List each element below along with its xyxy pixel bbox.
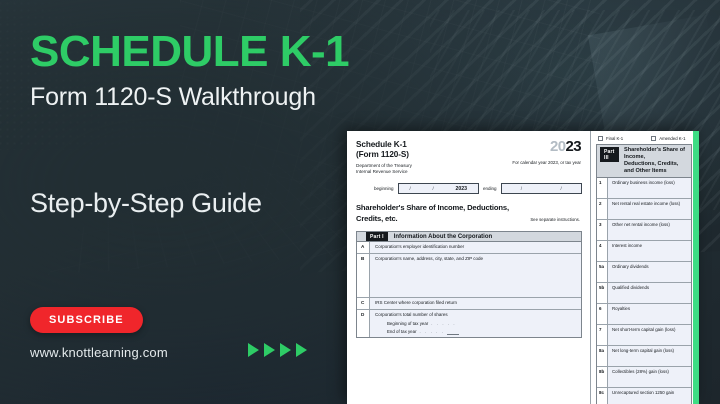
table-row[interactable]: B Corporation's name, address, city, sta…	[357, 254, 581, 298]
row-label: Ordinary business income (loss)	[608, 178, 675, 198]
form-green-edge	[693, 131, 699, 404]
website-url: www.knottlearning.com	[30, 345, 168, 360]
tax-year: 2023	[512, 139, 581, 154]
row-label: Unrecaptured section 1250 gain	[608, 388, 674, 404]
form-year-block: 2023 For calendar year 2023, or tax year	[512, 139, 581, 165]
final-k1-checkbox[interactable]: Final K-1	[598, 136, 623, 141]
table-row[interactable]: 4Interest income	[597, 241, 691, 262]
table-row[interactable]: A Corporation's employer identification …	[357, 242, 581, 254]
part1-table: A Corporation's employer identification …	[356, 242, 582, 338]
beginning-date-field[interactable]: / / 2023	[398, 183, 479, 194]
checkbox-icon[interactable]	[651, 136, 656, 141]
shares-ending-label: End of tax year	[387, 329, 417, 335]
row-key: 3	[597, 220, 608, 240]
table-row[interactable]: 5bQualified dividends	[597, 283, 691, 304]
part1-label: Information About the Corporation	[394, 234, 492, 240]
tax-year-suffix: 23	[566, 138, 582, 155]
slash: /	[521, 186, 522, 191]
part1-tag: Part I	[366, 232, 388, 241]
part1-header: Part I Information About the Corporation	[356, 231, 582, 242]
shares-ending-row[interactable]: End of tax year . . . . .	[375, 329, 459, 335]
row-key: 6	[597, 304, 608, 324]
ending-label: ending	[483, 186, 497, 191]
shares-beginning-row[interactable]: Beginning of tax year . . . . .	[375, 320, 459, 326]
part3-label: Shareholder's Share of Income, Deduction…	[624, 147, 688, 175]
shares-ending-input[interactable]	[447, 329, 459, 335]
row-label: Royalties	[608, 304, 630, 324]
row-label: Corporation's total number of shares	[375, 312, 459, 318]
row-key: A	[357, 242, 370, 253]
final-k1-label: Final K-1	[606, 136, 623, 141]
part3-header: Part III Shareholder's Share of Income, …	[596, 144, 692, 178]
page-subtitle: Form 1120-S Walkthrough	[30, 84, 360, 112]
calendar-year-note: For calendar year 2023, or tax year	[512, 160, 581, 165]
table-row[interactable]: 2Net rental real estate income (loss)	[597, 199, 691, 220]
row-label: Net short-term capital gain (loss)	[608, 325, 675, 345]
row-key: C	[357, 298, 370, 309]
form-left-column: 2023 For calendar year 2023, or tax year…	[347, 131, 591, 404]
dot-leader: . . . . .	[420, 329, 445, 334]
subscribe-button[interactable]: SUBSCRIBE	[30, 307, 143, 333]
row-key: 4	[597, 241, 608, 261]
row-key: D	[357, 310, 370, 337]
part3-tag: Part III	[600, 147, 619, 162]
beginning-label: beginning	[374, 186, 394, 191]
row-label-group: Corporation's total number of shares Beg…	[370, 310, 459, 337]
table-row[interactable]: 3Other net rental income (loss)	[597, 220, 691, 241]
row-key: 8a	[597, 346, 608, 366]
row-label: Collectibles (28%) gain (loss)	[608, 367, 669, 387]
checkbox-icon[interactable]	[598, 136, 603, 141]
table-row[interactable]: 8cUnrecaptured section 1250 gain	[597, 388, 691, 404]
table-row[interactable]: C IRS Center where corporation filed ret…	[357, 298, 581, 310]
shares-beginning-label: Beginning of tax year	[387, 321, 428, 327]
amended-k1-label: Amended K-1	[659, 136, 685, 141]
table-row[interactable]: 8aNet long-term capital gain (loss)	[597, 346, 691, 367]
slash: /	[409, 186, 410, 191]
part3-table: 1Ordinary business income (loss) 2Net re…	[596, 178, 692, 404]
amended-k1-checkbox[interactable]: Amended K-1	[651, 136, 685, 141]
table-row[interactable]: 7Net short-term capital gain (loss)	[597, 325, 691, 346]
beginning-year-value: 2023	[456, 186, 468, 192]
video-thumbnail: SCHEDULE K-1 Form 1120-S Walkthrough Ste…	[0, 0, 720, 404]
tax-period-row: beginning / / 2023 ending / /	[356, 183, 582, 194]
tagline: Step-by-Step Guide	[30, 188, 262, 219]
form-right-column: Final K-1 Amended K-1 Part III Sharehold…	[591, 131, 699, 404]
row-key: 1	[597, 178, 608, 198]
row-key: 5b	[597, 283, 608, 303]
table-row[interactable]: 8bCollectibles (28%) gain (loss)	[597, 367, 691, 388]
part3-label-line1: Shareholder's Share of Income,	[624, 147, 685, 160]
slash: /	[561, 186, 562, 191]
part3-label-line2: Deductions, Credits, and Other Items	[624, 161, 678, 174]
table-row[interactable]: 1Ordinary business income (loss)	[597, 178, 691, 199]
table-row[interactable]: 6Royalties	[597, 304, 691, 325]
page-title: SCHEDULE K-1	[30, 30, 360, 74]
play-arrow-icon	[280, 343, 291, 357]
schedule-k1-form: 2023 For calendar year 2023, or tax year…	[347, 131, 699, 404]
headline-block: SCHEDULE K-1 Form 1120-S Walkthrough	[30, 30, 360, 112]
row-label: Other net rental income (loss)	[608, 220, 670, 240]
row-label: Qualified dividends	[608, 283, 649, 303]
agency-line2: Internal Revenue Service	[356, 169, 582, 175]
row-key: 8c	[597, 388, 608, 404]
play-arrow-icon	[264, 343, 275, 357]
row-key: 7	[597, 325, 608, 345]
play-arrow-icon	[248, 343, 259, 357]
k1-status-checkboxes: Final K-1 Amended K-1	[596, 136, 692, 144]
row-key: B	[357, 254, 370, 297]
row-key: 8b	[597, 367, 608, 387]
row-label: Net rental real estate income (loss)	[608, 199, 680, 219]
row-label: IRS Center where corporation filed retur…	[370, 298, 457, 309]
instructions-note: See separate instructions.	[530, 217, 580, 222]
tax-year-prefix: 20	[550, 138, 566, 155]
table-row[interactable]: 5aOrdinary dividends	[597, 262, 691, 283]
row-key: 2	[597, 199, 608, 219]
slash: /	[432, 186, 433, 191]
row-label: Interest income	[608, 241, 642, 261]
ending-date-field[interactable]: / /	[501, 183, 582, 194]
row-label: Net long-term capital gain (loss)	[608, 346, 674, 366]
row-label: Ordinary dividends	[608, 262, 649, 282]
arrow-group	[248, 343, 307, 357]
form-heading-line1: Shareholder's Share of Income, Deduction…	[356, 203, 582, 213]
row-label: Corporation's name, address, city, state…	[370, 254, 483, 297]
row-key: 5a	[597, 262, 608, 282]
table-row[interactable]: D Corporation's total number of shares B…	[357, 310, 581, 337]
row-label: Corporation's employer identification nu…	[370, 242, 464, 253]
play-arrow-icon	[296, 343, 307, 357]
dot-leader: . . . . .	[431, 321, 456, 326]
